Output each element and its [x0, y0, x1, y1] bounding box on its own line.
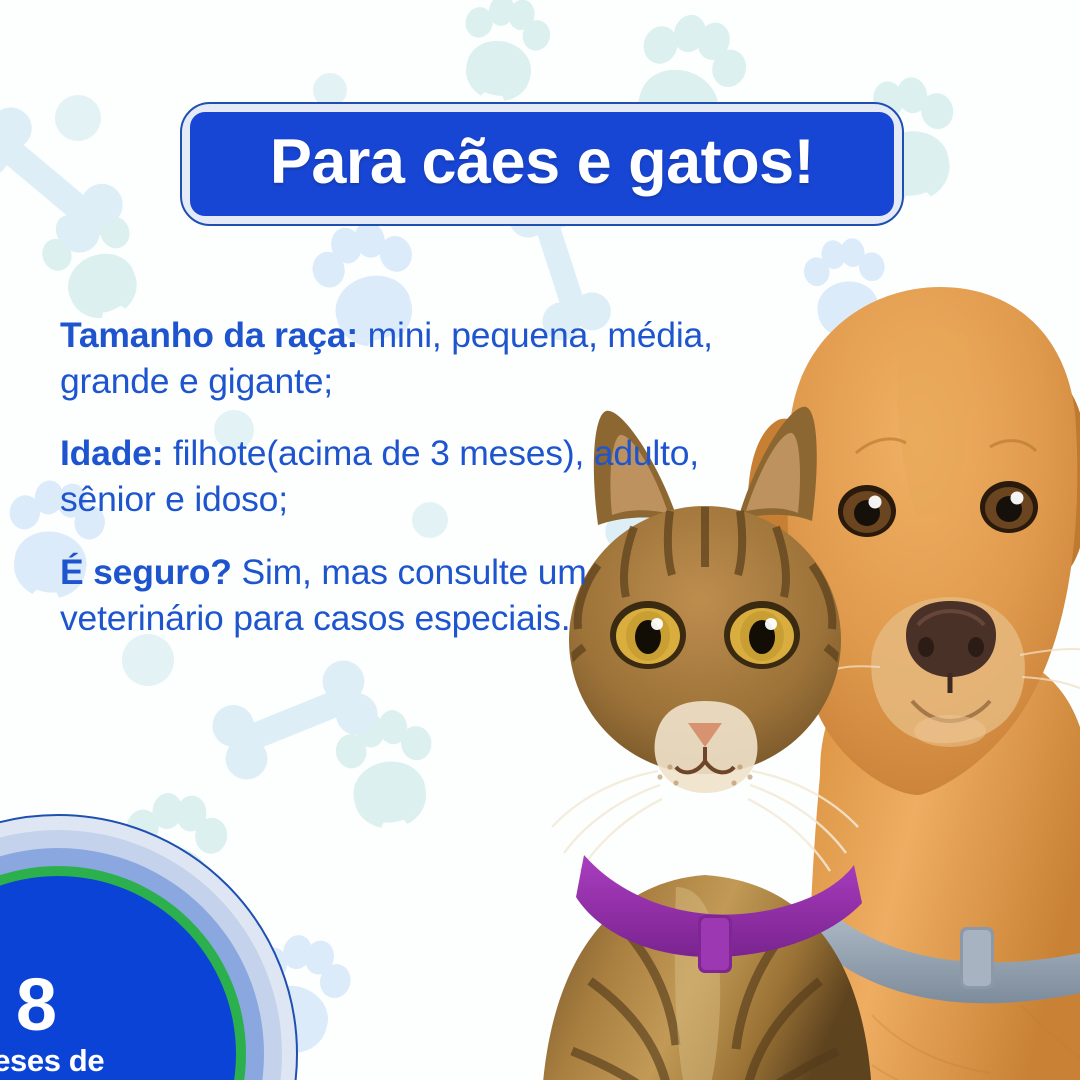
badge-label-line1: Meses de: [0, 1045, 104, 1077]
info-label-breed-size: Tamanho da raça:: [60, 315, 358, 355]
protection-duration-badge: 8 Meses de proteção: [0, 814, 298, 1080]
info-label-age: Idade:: [60, 433, 163, 473]
info-paragraph-safety: É seguro? Sim, mas consulte um veterinár…: [60, 549, 720, 641]
info-copy-block: Tamanho da raça: mini, pequena, média, g…: [60, 312, 720, 641]
badge-text-group: 8 Meses de proteção: [0, 862, 214, 1080]
info-paragraph-age: Idade: filhote(acima de 3 meses), adulto…: [60, 430, 720, 522]
info-label-safety: É seguro?: [60, 552, 232, 592]
badge-month-count: 8: [16, 971, 56, 1039]
info-paragraph-breed-size: Tamanho da raça: mini, pequena, média, g…: [60, 312, 720, 404]
poster-canvas: Para cães e gatos! Tamanho da raça: mini…: [0, 0, 1080, 1080]
headline-blue-panel: Para cães e gatos!: [190, 112, 894, 216]
headline-text: Para cães e gatos!: [270, 131, 814, 194]
headline-card: Para cães e gatos!: [180, 102, 904, 226]
